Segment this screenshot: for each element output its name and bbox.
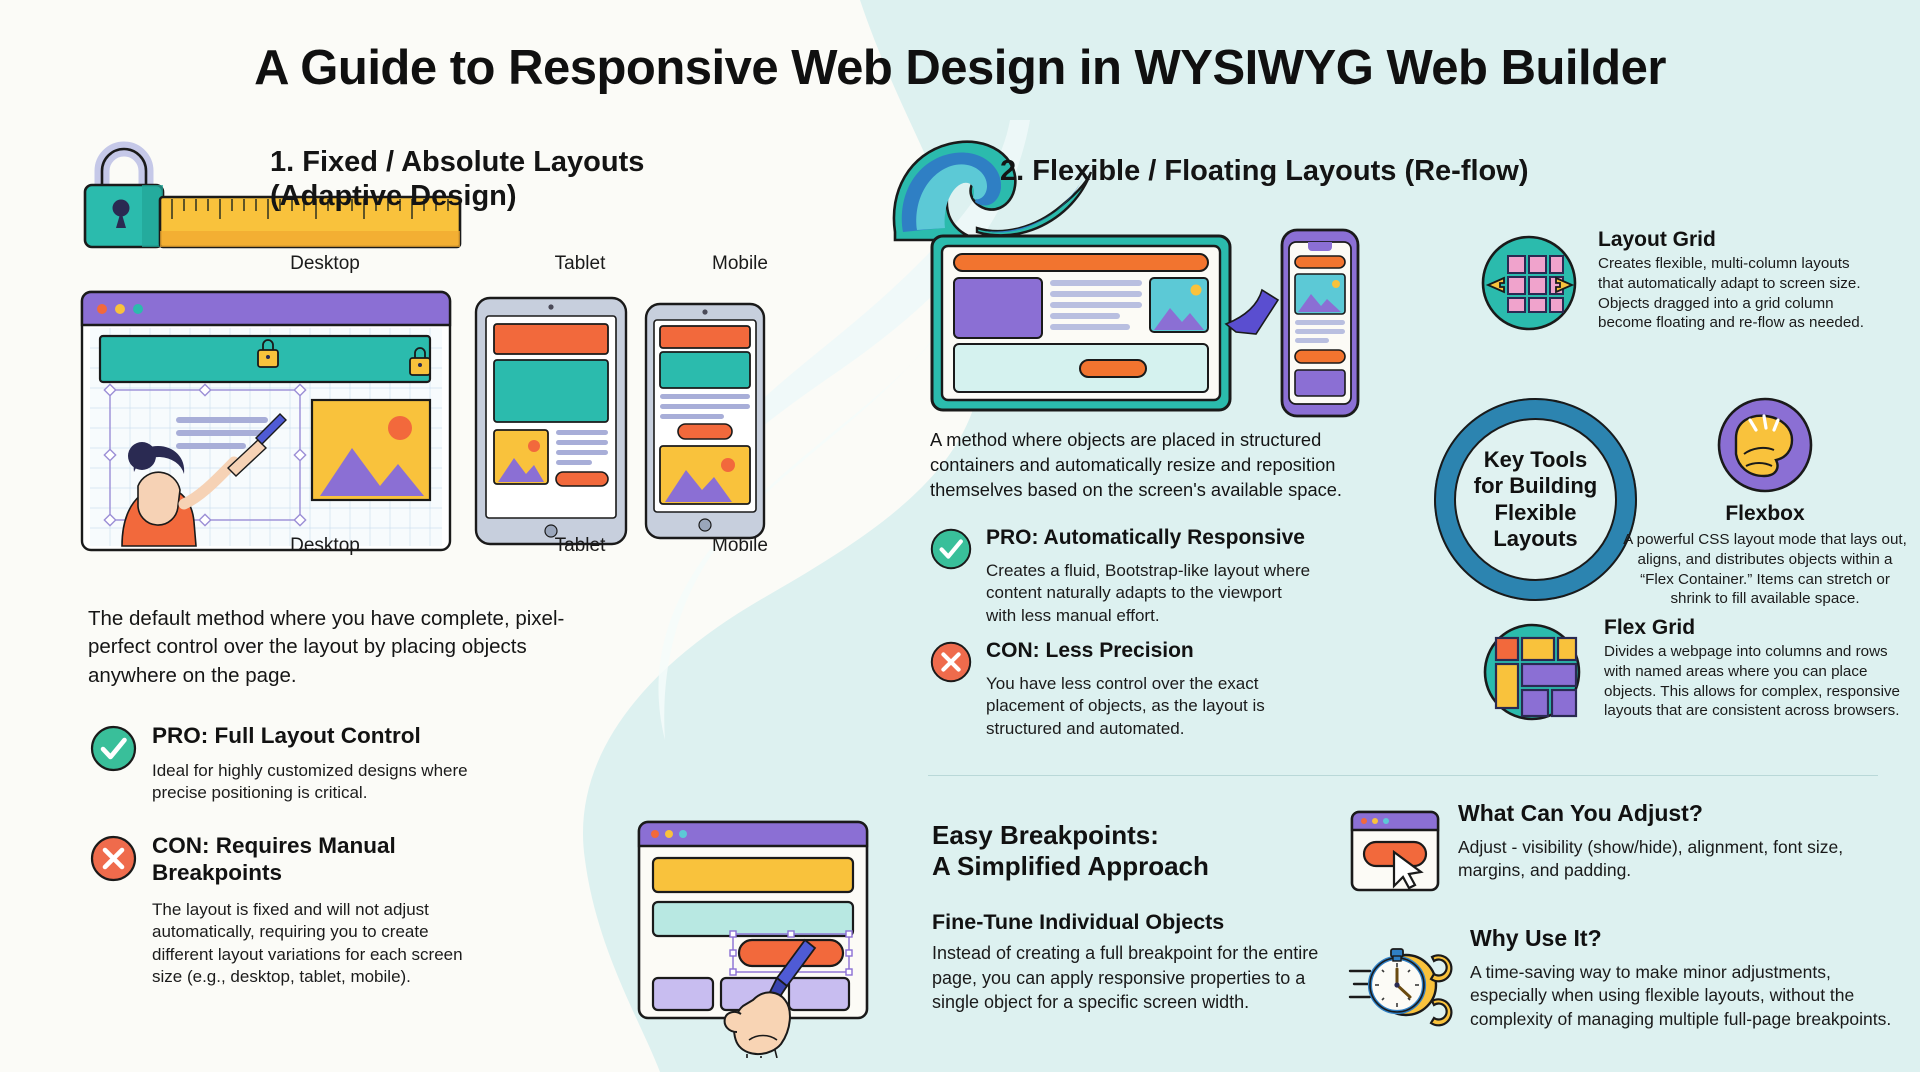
x-circle-icon xyxy=(930,641,972,683)
check-circle-icon xyxy=(90,725,137,772)
device-label-desktop-bottom: Desktop xyxy=(200,535,450,557)
section2-heading: 2. Flexible / Floating Layouts (Re-flow) xyxy=(1000,155,1660,188)
breakpoints-desc: Instead of creating a full breakpoint fo… xyxy=(932,941,1352,1014)
flex-muscle-icon xyxy=(1716,396,1814,494)
tool-title-layout-grid: Layout Grid xyxy=(1598,228,1716,252)
bottom-title-adjust: What Can You Adjust? xyxy=(1458,800,1703,827)
section1-pro-title: PRO: Full Layout Control xyxy=(152,723,482,750)
device-label-mobile-bottom: Mobile xyxy=(675,535,805,557)
divider xyxy=(928,775,1878,776)
device-label-desktop-top: Desktop xyxy=(200,253,450,275)
grid-arrows-icon xyxy=(1480,234,1578,332)
desktop-mockup xyxy=(82,292,450,550)
section2-con-desc: You have less control over the exact pla… xyxy=(986,673,1316,740)
section1-con-desc: The layout is fixed and will not adjust … xyxy=(152,899,482,989)
breakpoints-text: Easy Breakpoints: A Simplified Approach … xyxy=(932,820,1352,1015)
bottom-title-why: Why Use It? xyxy=(1470,925,1602,952)
device-label-mobile-top: Mobile xyxy=(675,253,805,275)
tool-card-flexbox: Flexbox A powerful CSS layout mode that … xyxy=(1620,396,1910,609)
section1-con-title: CON: Requires Manual Breakpoints xyxy=(152,833,482,886)
check-circle-icon xyxy=(930,528,972,570)
section1-paragraph: The default method where you have comple… xyxy=(88,605,588,690)
x-circle-icon xyxy=(90,835,137,882)
device-mockups xyxy=(80,290,780,560)
bottom-desc-why: A time-saving way to make minor adjustme… xyxy=(1470,961,1910,1031)
tool-title-flexbox: Flexbox xyxy=(1620,502,1910,526)
tool-title-flex-grid: Flex Grid xyxy=(1604,616,1695,640)
breakpoints-title: Easy Breakpoints: A Simplified Approach xyxy=(932,820,1352,882)
section2-block: A method where objects are placed in str… xyxy=(930,428,1360,503)
reflow-illustration xyxy=(930,228,1360,418)
tool-desc-flexbox: A powerful CSS layout mode that lays out… xyxy=(1620,530,1910,609)
flex-grid-icon xyxy=(1480,620,1584,724)
bottom-desc-adjust: Adjust - visibility (show/hide), alignme… xyxy=(1458,836,1898,883)
section2-pro-desc: Creates a fluid, Bootstrap-like layout w… xyxy=(986,560,1316,627)
device-label-tablet-top: Tablet xyxy=(500,253,660,275)
tool-desc-flex-grid: Divides a webpage into columns and rows … xyxy=(1604,642,1904,721)
section1-pro-desc: Ideal for highly customized designs wher… xyxy=(152,760,482,805)
browser-cursor-icon xyxy=(1348,804,1442,898)
section1-heading: 1. Fixed / Absolute Layouts (Adaptive De… xyxy=(270,145,740,213)
circle-ring xyxy=(1434,398,1637,601)
stopwatch-gears-icon xyxy=(1348,931,1458,1041)
tool-desc-layout-grid: Creates flexible, multi-column layouts t… xyxy=(1598,254,1878,333)
page-title: A Guide to Responsive Web Design in WYSI… xyxy=(0,40,1920,96)
mobile-mockup xyxy=(646,304,764,538)
section2-con-title: CON: Less Precision xyxy=(986,639,1346,664)
tablet-mockup xyxy=(476,298,626,544)
section2-pro-title: PRO: Automatically Responsive xyxy=(986,526,1346,551)
section2-paragraph: A method where objects are placed in str… xyxy=(930,428,1360,503)
breakpoints-subtitle: Fine-Tune Individual Objects xyxy=(932,910,1352,935)
device-label-tablet-bottom: Tablet xyxy=(500,535,660,557)
browser-drag-hand-icon xyxy=(635,818,905,1058)
key-tools-circle: Key Tools for Building Flexible Layouts xyxy=(1434,398,1637,601)
